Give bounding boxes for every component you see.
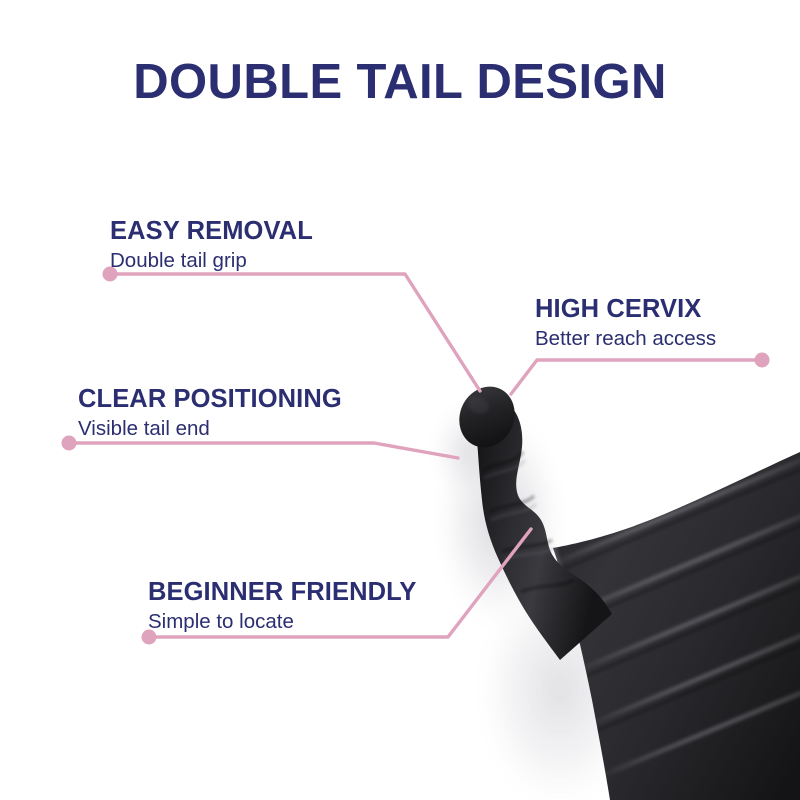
connector-dot-high-cervix [755, 353, 770, 368]
callout-subtitle: Visible tail end [78, 417, 342, 442]
infographic-canvas: DOUBLE TAIL DESIGN EASY REMOVAL Double t… [0, 0, 800, 800]
connector-dot-clear-positioning [62, 436, 77, 451]
page-title: DOUBLE TAIL DESIGN [0, 57, 800, 108]
callout-subtitle: Double tail grip [110, 249, 313, 274]
connector-clear-positioning [69, 443, 458, 458]
callout-heading: HIGH CERVIX [535, 295, 716, 324]
callout-heading: EASY REMOVAL [110, 217, 313, 246]
callout-heading: BEGINNER FRIENDLY [148, 578, 417, 607]
connector-high-cervix [511, 360, 762, 394]
callout-easy-removal: EASY REMOVAL Double tail grip [110, 217, 313, 273]
callout-beginner-friendly: BEGINNER FRIENDLY Simple to locate [148, 578, 417, 634]
callout-subtitle: Better reach access [535, 327, 716, 352]
connector-easy-removal [110, 274, 480, 391]
callout-high-cervix: HIGH CERVIX Better reach access [535, 295, 716, 351]
callout-heading: CLEAR POSITIONING [78, 385, 342, 414]
callout-subtitle: Simple to locate [148, 610, 417, 635]
callout-clear-positioning: CLEAR POSITIONING Visible tail end [78, 385, 342, 441]
